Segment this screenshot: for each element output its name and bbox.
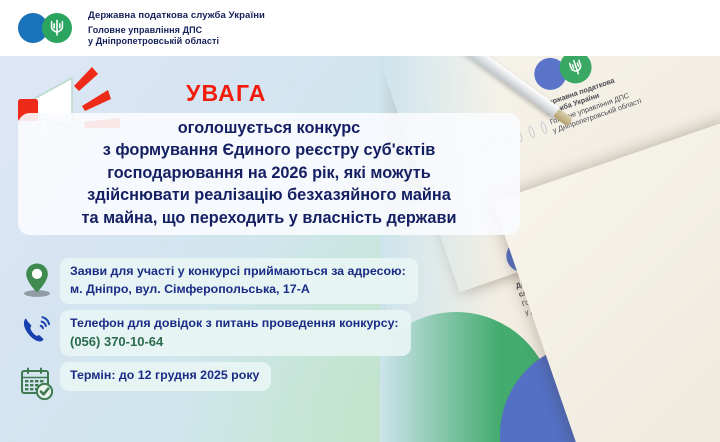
phone-ring-icon: [14, 310, 60, 347]
phone-number: (056) 370-10-64: [70, 333, 399, 351]
announcement-line-3: господарювання на 2026 рік, які можуть: [107, 162, 431, 184]
deadline-text-box: Термін: до 12 грудня 2025 року: [60, 362, 271, 391]
announcement-line-5: та майна, що переходить у власність держ…: [82, 207, 457, 229]
phone-label: Телефон для довідок з питань проведення …: [70, 315, 399, 333]
announcement-line-2: з формування Єдиного реєстру суб'єктів: [103, 139, 436, 161]
contact-info-block: Заяви для участі у конкурсі приймаються …: [14, 258, 418, 407]
header-bar: Державна податкова служба України Головн…: [0, 0, 720, 56]
poster-canvas: Державна податкова служба України Головн…: [0, 0, 720, 442]
calendar-check-icon: [14, 362, 60, 401]
address-text-box: Заяви для участі у конкурсі приймаються …: [60, 258, 418, 304]
phone-text-box: Телефон для довідок з питань проведення …: [60, 310, 411, 356]
header-org-name: Державна податкова служба України: [88, 9, 265, 22]
header-text-block: Державна податкова служба України Головн…: [88, 9, 265, 48]
contact-row-deadline: Термін: до 12 грудня 2025 року: [14, 362, 418, 401]
announcement-panel: оголошується конкурс з формування Єдиног…: [18, 113, 520, 235]
logo-trident-icon: [42, 13, 72, 43]
header-department-line-1: Головне управління ДПС: [88, 25, 265, 37]
address-label: Заяви для участі у конкурсі приймаються …: [70, 263, 406, 281]
organization-logo: [14, 11, 86, 45]
location-pin-icon: [14, 258, 60, 299]
announcement-line-4: здійснювати реалізацію безхазяйного майн…: [87, 184, 451, 206]
address-value: м. Дніпро, вул. Сімферопольська, 17-А: [70, 281, 406, 299]
deadline-label: Термін: до 12 грудня 2025 року: [70, 367, 259, 385]
header-department-line-2: у Дніпропетровській області: [88, 36, 265, 48]
contact-row-address: Заяви для участі у конкурсі приймаються …: [14, 258, 418, 304]
contact-row-phone: Телефон для довідок з питань проведення …: [14, 310, 418, 356]
attention-heading: УВАГА: [186, 80, 267, 107]
announcement-line-1: оголошується конкурс: [178, 117, 361, 139]
